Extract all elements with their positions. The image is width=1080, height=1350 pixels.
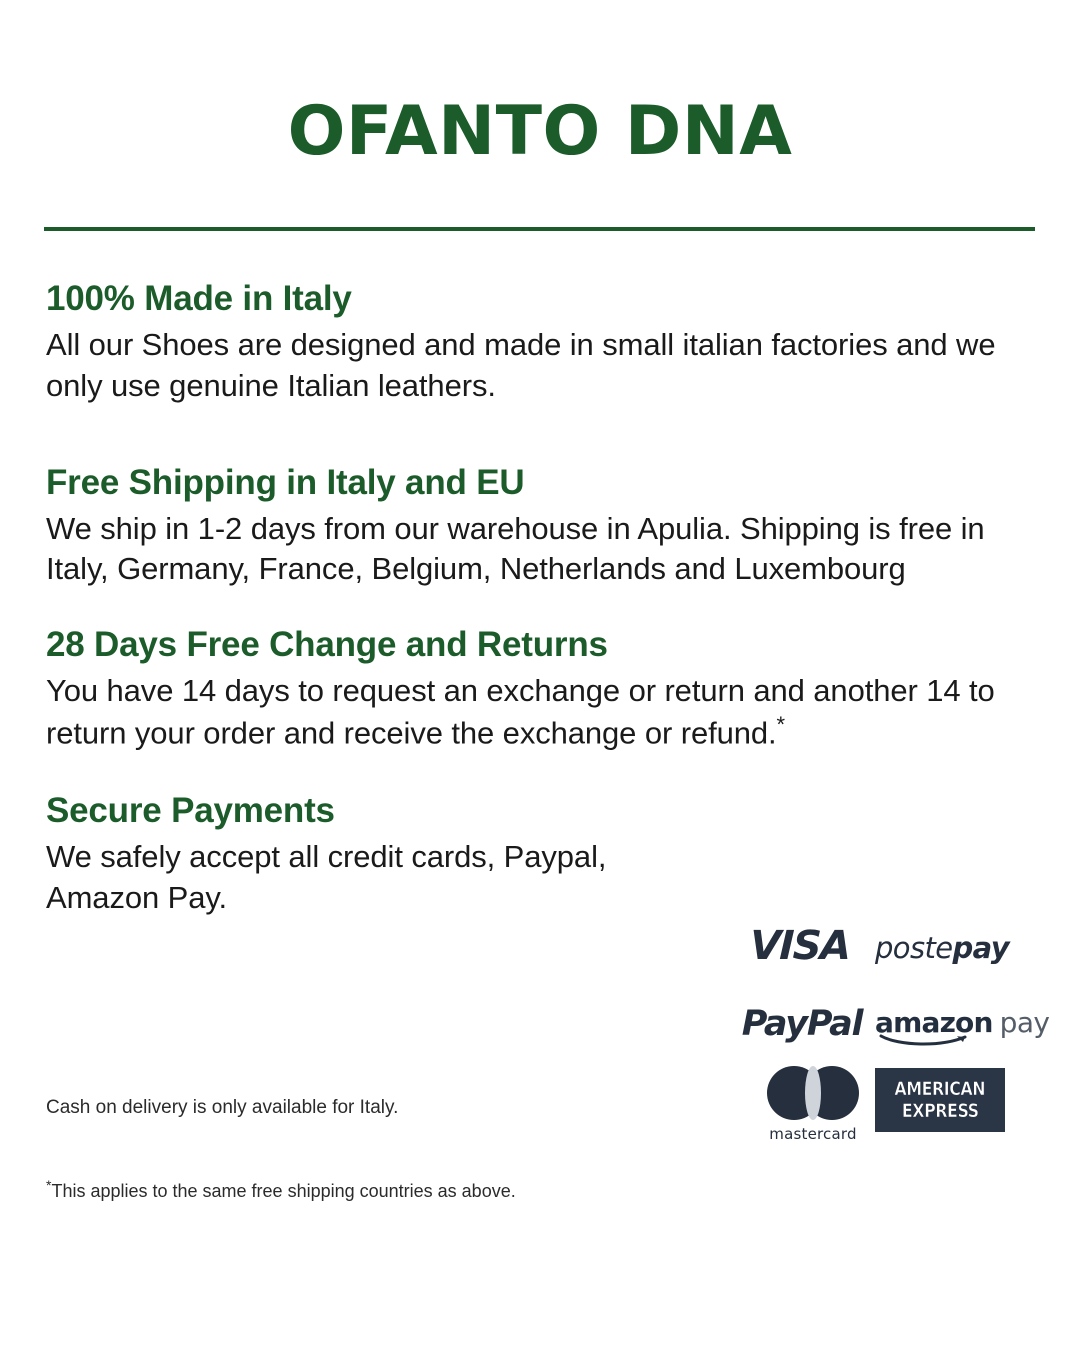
section-heading-made-in-italy: 100% Made in Italy — [46, 278, 1036, 319]
mastercard-overlap — [805, 1066, 821, 1120]
section-secure-payments: Secure Payments We safely accept all cre… — [46, 790, 1036, 918]
spacer — [46, 754, 1036, 790]
section-free-shipping: Free Shipping in Italy and EU We ship in… — [46, 462, 1036, 590]
page-header: OFANTO DNA — [0, 98, 1080, 166]
section-body-made-in-italy: All our Shoes are designed and made in s… — [46, 325, 1036, 406]
section-body-free-shipping: We ship in 1-2 days from our warehouse i… — [46, 509, 1036, 590]
section-made-in-italy: 100% Made in Italy All our Shoes are des… — [46, 278, 1036, 406]
ofanto-dna-info-page: OFANTO DNA 100% Made in Italy All our Sh… — [0, 0, 1080, 1350]
mastercard-label: mastercard — [769, 1125, 856, 1143]
amex-wordmark: AMERICAN EXPRESS — [875, 1080, 1005, 1121]
section-body-returns: You have 14 days to request an exchange … — [46, 671, 1036, 754]
postepay-icon: postepay — [875, 928, 1035, 968]
header-divider — [44, 227, 1035, 231]
visa-icon: VISA — [735, 924, 865, 968]
amex-line-one: AMERICAN — [895, 1080, 986, 1099]
postepay-logo-bold: pay — [952, 931, 1009, 965]
section-returns: 28 Days Free Change and Returns You have… — [46, 624, 1036, 754]
payment-logos-group: VISA postepay PayPal amazon pay mas — [735, 916, 1035, 1151]
section-heading-secure-payments: Secure Payments — [46, 790, 686, 831]
amazon-smile-arrow-icon — [879, 1033, 975, 1047]
paypal-logo-text: PayPal — [742, 1004, 863, 1044]
spacer — [46, 406, 1036, 462]
returns-footnote-marker: * — [777, 712, 785, 737]
page-title: OFANTO DNA — [0, 98, 1080, 166]
spacer — [46, 590, 1036, 624]
section-body-secure-payments: We safely accept all credit cards, Paypa… — [46, 837, 686, 918]
postepay-logo-light: poste — [875, 931, 952, 965]
section-heading-returns: 28 Days Free Change and Returns — [46, 624, 1036, 665]
amazon-pay-word: pay — [1000, 1006, 1050, 1039]
cash-on-delivery-note: Cash on delivery is only available for I… — [46, 1095, 398, 1122]
amex-line-two: EXPRESS — [902, 1102, 979, 1121]
visa-logo-text: VISA — [749, 923, 850, 969]
section-heading-free-shipping: Free Shipping in Italy and EU — [46, 462, 1036, 503]
amazon-pay-icon: amazon pay — [875, 1006, 1035, 1050]
section-body-returns-text: You have 14 days to request an exchange … — [46, 673, 995, 751]
content-sections: 100% Made in Italy All our Shoes are des… — [46, 278, 1036, 918]
secure-payments-text-block: Secure Payments We safely accept all cre… — [46, 790, 686, 918]
american-express-icon: AMERICAN EXPRESS — [875, 1068, 1005, 1132]
footnote-text: This applies to the same free shipping c… — [51, 1181, 515, 1201]
mastercard-icon: mastercard — [757, 1066, 869, 1148]
page-footnote: *This applies to the same free shipping … — [46, 1176, 516, 1204]
mastercard-circles — [767, 1066, 859, 1120]
paypal-icon: PayPal — [737, 1002, 867, 1046]
